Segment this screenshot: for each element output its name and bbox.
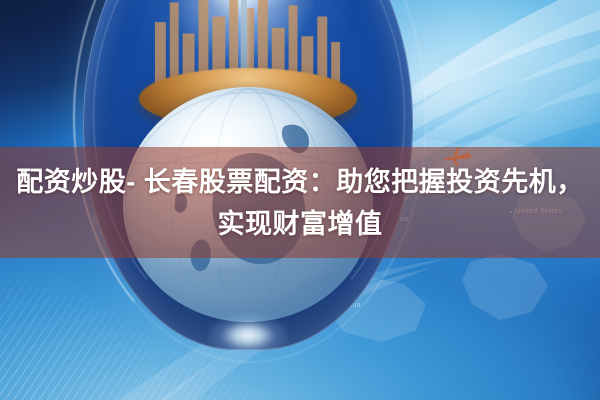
- page-title: 配资炒股- 长春股票配资：助您把握投资先机，实现财富增值: [12, 161, 588, 245]
- title-band: 配资炒股- 长春股票配资：助您把握投资先机，实现财富增值: [0, 147, 600, 258]
- promo-banner: Australia United States China: [0, 0, 600, 400]
